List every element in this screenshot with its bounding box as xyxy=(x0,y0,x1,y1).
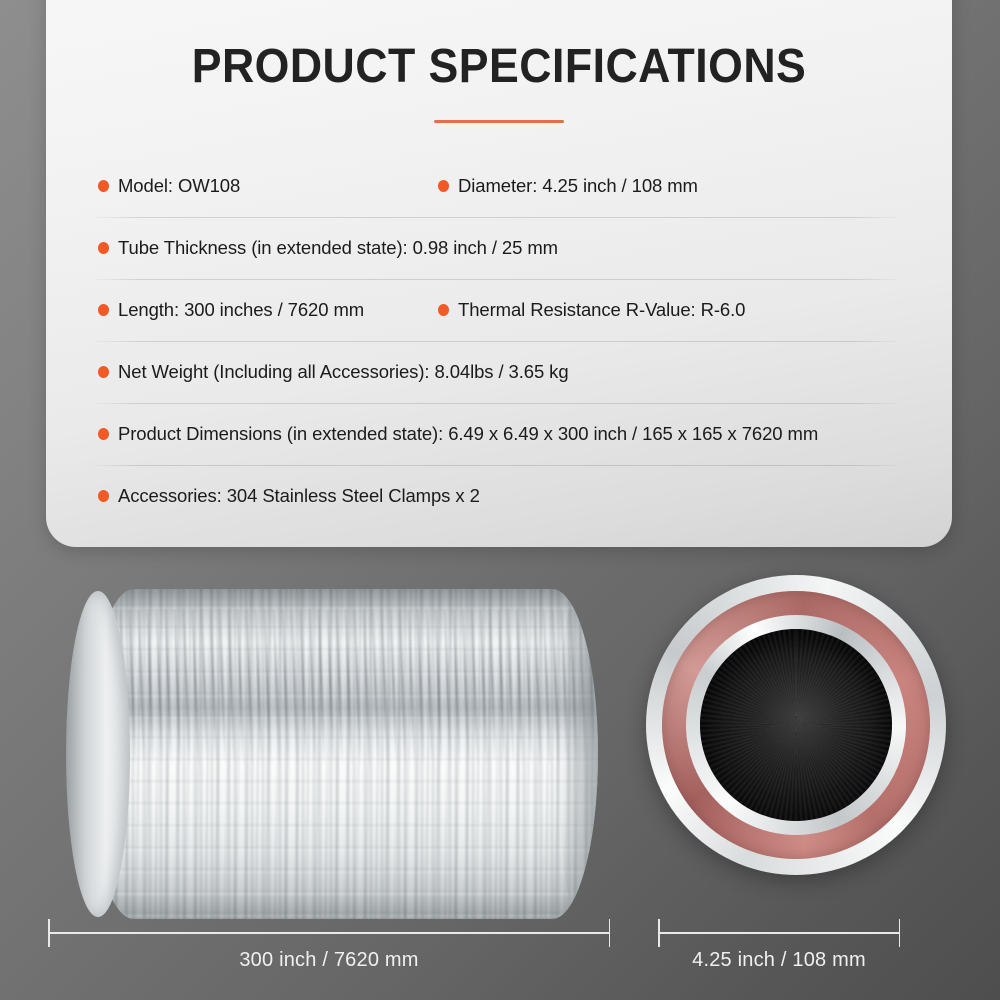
spec-item-net-weight: Net Weight (Including all Accessories): … xyxy=(98,361,904,383)
spec-card: PRODUCT SPECIFICATIONS Model: OW108 Diam… xyxy=(46,0,952,547)
spec-item-length: Length: 300 inches / 7620 mm xyxy=(98,299,438,321)
spec-text: Thermal Resistance R-Value: R-6.0 xyxy=(458,299,745,321)
bullet-icon xyxy=(98,490,109,502)
spec-item-accessories: Accessories: 304 Stainless Steel Clamps … xyxy=(98,485,904,507)
bullet-icon xyxy=(98,366,109,378)
title-divider-wrap xyxy=(94,120,904,123)
spec-text: Accessories: 304 Stainless Steel Clamps … xyxy=(118,485,480,507)
duct-left-cap xyxy=(66,591,130,917)
bullet-icon xyxy=(438,304,449,316)
dimension-callout-diameter: 4.25 inch / 108 mm xyxy=(658,932,900,992)
bullet-icon xyxy=(98,242,109,254)
bullet-icon xyxy=(98,180,109,192)
bullet-icon xyxy=(98,428,109,440)
duct-upper-shading xyxy=(88,609,598,767)
product-specifications-page: PRODUCT SPECIFICATIONS Model: OW108 Diam… xyxy=(0,0,1000,1000)
spec-row-tube-thickness: Tube Thickness (in extended state): 0.98… xyxy=(94,217,904,279)
spec-list: Model: OW108 Diameter: 4.25 inch / 108 m… xyxy=(94,155,904,527)
spec-item-tube-thickness: Tube Thickness (in extended state): 0.98… xyxy=(98,237,904,259)
duct-end-view-image xyxy=(646,575,946,875)
duct-bore-opening xyxy=(700,629,892,821)
spec-text: Model: OW108 xyxy=(118,175,240,197)
spec-row-accessories: Accessories: 304 Stainless Steel Clamps … xyxy=(94,465,904,527)
spec-card-inner: PRODUCT SPECIFICATIONS Model: OW108 Diam… xyxy=(46,0,952,547)
spec-row-net-weight: Net Weight (Including all Accessories): … xyxy=(94,341,904,403)
spec-text: Product Dimensions (in extended state): … xyxy=(118,423,818,445)
duct-bore-texture xyxy=(700,629,892,821)
duct-side-view-image xyxy=(66,589,618,919)
spec-row-model-diameter: Model: OW108 Diameter: 4.25 inch / 108 m… xyxy=(94,155,904,217)
spec-text: Length: 300 inches / 7620 mm xyxy=(118,299,364,321)
dimension-label: 300 inch / 7620 mm xyxy=(48,949,610,972)
spec-item-product-dimensions: Product Dimensions (in extended state): … xyxy=(98,423,904,445)
dimension-line xyxy=(658,932,900,934)
bullet-icon xyxy=(98,304,109,316)
page-title: PRODUCT SPECIFICATIONS xyxy=(122,42,875,92)
dimension-tick-left xyxy=(48,919,50,947)
dimension-tick-right xyxy=(899,919,901,947)
dimension-callout-length: 300 inch / 7620 mm xyxy=(48,932,610,992)
title-divider xyxy=(434,120,564,123)
spec-row-length-rvalue: Length: 300 inches / 7620 mm Thermal Res… xyxy=(94,279,904,341)
dimension-tick-left xyxy=(658,919,660,947)
spec-item-thermal-resistance: Thermal Resistance R-Value: R-6.0 xyxy=(438,299,745,321)
dimension-label: 4.25 inch / 108 mm xyxy=(658,949,900,972)
spec-row-product-dimensions: Product Dimensions (in extended state): … xyxy=(94,403,904,465)
bullet-icon xyxy=(438,180,449,192)
duct-right-edge xyxy=(558,593,598,915)
spec-text: Diameter: 4.25 inch / 108 mm xyxy=(458,175,698,197)
dimension-line xyxy=(48,932,610,934)
spec-item-diameter: Diameter: 4.25 inch / 108 mm xyxy=(438,175,698,197)
spec-item-model: Model: OW108 xyxy=(98,175,438,197)
spec-text: Tube Thickness (in extended state): 0.98… xyxy=(118,237,558,259)
dimension-tick-right xyxy=(609,919,611,947)
duct-body xyxy=(88,589,598,919)
spec-text: Net Weight (Including all Accessories): … xyxy=(118,361,569,383)
